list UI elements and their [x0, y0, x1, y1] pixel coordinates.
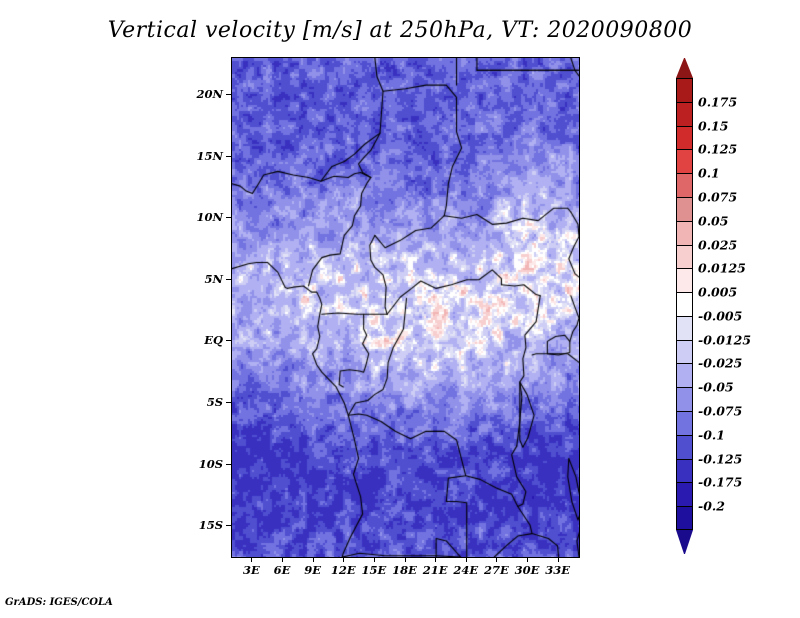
- colorbar[interactable]: [676, 78, 693, 530]
- x-tick-mark: [251, 557, 252, 562]
- colorbar-over-arrow-icon: [676, 58, 693, 78]
- colorbar-band: [676, 506, 693, 530]
- x-tick-label: 21E: [423, 563, 448, 577]
- y-tick-mark: [226, 94, 231, 95]
- colorbar-band: [676, 126, 693, 150]
- x-tick-mark: [527, 557, 528, 562]
- y-tick-label: EQ: [189, 333, 223, 347]
- y-tick-mark: [226, 402, 231, 403]
- x-tick-mark: [466, 557, 467, 562]
- colorbar-tick-label: 0.075: [698, 189, 737, 204]
- vertical-velocity-heatmap: [232, 58, 579, 557]
- colorbar-band: [676, 102, 693, 126]
- colorbar-tick-label: 0.0125: [698, 261, 746, 276]
- colorbar-band: [676, 340, 693, 364]
- colorbar-band: [676, 411, 693, 435]
- colorbar-band: [676, 387, 693, 411]
- colorbar-band: [676, 197, 693, 221]
- y-tick-label: 15N: [189, 149, 223, 163]
- y-tick-label: 20N: [189, 87, 223, 101]
- x-tick-mark: [282, 557, 283, 562]
- page-title: Vertical velocity [m/s] at 250hPa, VT: 2…: [0, 18, 800, 43]
- y-tick-label: 15S: [189, 518, 223, 532]
- colorbar-tick-label: -0.025: [698, 356, 742, 371]
- x-tick-label: 12E: [331, 563, 356, 577]
- colorbar-tick-label: -0.0125: [698, 332, 751, 347]
- colorbar-tick-label: -0.1: [698, 427, 725, 442]
- x-tick-mark: [343, 557, 344, 562]
- colorbar-tick-label: -0.175: [698, 475, 742, 490]
- colorbar-tick-label: -0.005: [698, 308, 742, 323]
- x-tick-label: 24E: [453, 563, 478, 577]
- colorbar-tick-label: 0.005: [698, 285, 737, 300]
- colorbar-under-arrow-icon: [676, 530, 693, 554]
- x-tick-label: 18E: [392, 563, 417, 577]
- colorbar-band: [676, 149, 693, 173]
- colorbar-band: [676, 459, 693, 483]
- y-tick-label: 10N: [189, 210, 223, 224]
- colorbar-tick-label: 0.05: [698, 213, 728, 228]
- y-tick-mark: [226, 464, 231, 465]
- colorbar-tick-label: 0.175: [698, 94, 737, 109]
- colorbar-band: [676, 78, 693, 102]
- y-tick-label: 5S: [189, 395, 223, 409]
- colorbar-band: [676, 482, 693, 506]
- x-tick-mark: [405, 557, 406, 562]
- colorbar-tick-label: 0.15: [698, 118, 728, 133]
- colorbar-band: [676, 173, 693, 197]
- y-tick-mark: [226, 156, 231, 157]
- footer-credit: GrADS: IGES/COLA: [5, 597, 113, 608]
- colorbar-tick-label: -0.075: [698, 404, 742, 419]
- colorbar-band: [676, 268, 693, 292]
- x-tick-label: 33E: [545, 563, 570, 577]
- colorbar-tick-label: 0.125: [698, 142, 737, 157]
- x-tick-label: 6E: [274, 563, 291, 577]
- y-tick-mark: [226, 340, 231, 341]
- x-tick-mark: [313, 557, 314, 562]
- x-tick-mark: [435, 557, 436, 562]
- colorbar-band: [676, 316, 693, 340]
- y-tick-mark: [226, 525, 231, 526]
- x-tick-label: 15E: [361, 563, 386, 577]
- x-tick-label: 3E: [243, 563, 260, 577]
- y-tick-label: 5N: [189, 272, 223, 286]
- colorbar-band: [676, 292, 693, 316]
- map-plot-area[interactable]: [231, 57, 580, 558]
- colorbar-tick-label: -0.05: [698, 380, 734, 395]
- x-tick-label: 9E: [304, 563, 321, 577]
- x-tick-mark: [374, 557, 375, 562]
- colorbar-band: [676, 435, 693, 459]
- colorbar-band: [676, 221, 693, 245]
- colorbar-band: [676, 363, 693, 387]
- y-tick-mark: [226, 217, 231, 218]
- colorbar-tick-label: -0.2: [698, 499, 725, 514]
- chart-figure: Vertical velocity [m/s] at 250hPa, VT: 2…: [0, 0, 800, 618]
- x-tick-label: 27E: [484, 563, 509, 577]
- colorbar-band: [676, 245, 693, 269]
- y-tick-label: 10S: [189, 457, 223, 471]
- x-tick-label: 30E: [515, 563, 540, 577]
- colorbar-tick-label: 0.1: [698, 166, 720, 181]
- colorbar-tick-label: 0.025: [698, 237, 737, 252]
- colorbar-tick-label: -0.125: [698, 451, 742, 466]
- y-tick-mark: [226, 279, 231, 280]
- x-tick-mark: [496, 557, 497, 562]
- x-tick-mark: [558, 557, 559, 562]
